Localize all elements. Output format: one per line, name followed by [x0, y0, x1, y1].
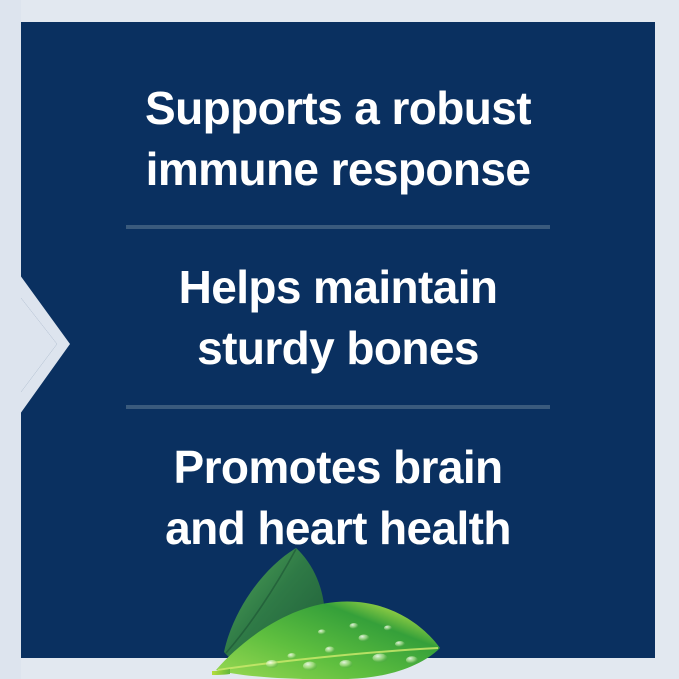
benefit-item-immune: Supports a robust immune response	[74, 78, 602, 199]
benefit-item-bones: Helps maintain sturdy bones	[74, 257, 602, 378]
benefit-divider-2	[126, 405, 550, 409]
leaves-image	[212, 540, 462, 679]
benefit-divider-1	[126, 225, 550, 229]
product-benefits-graphic: Supports a robust immune response Helps …	[0, 0, 679, 679]
